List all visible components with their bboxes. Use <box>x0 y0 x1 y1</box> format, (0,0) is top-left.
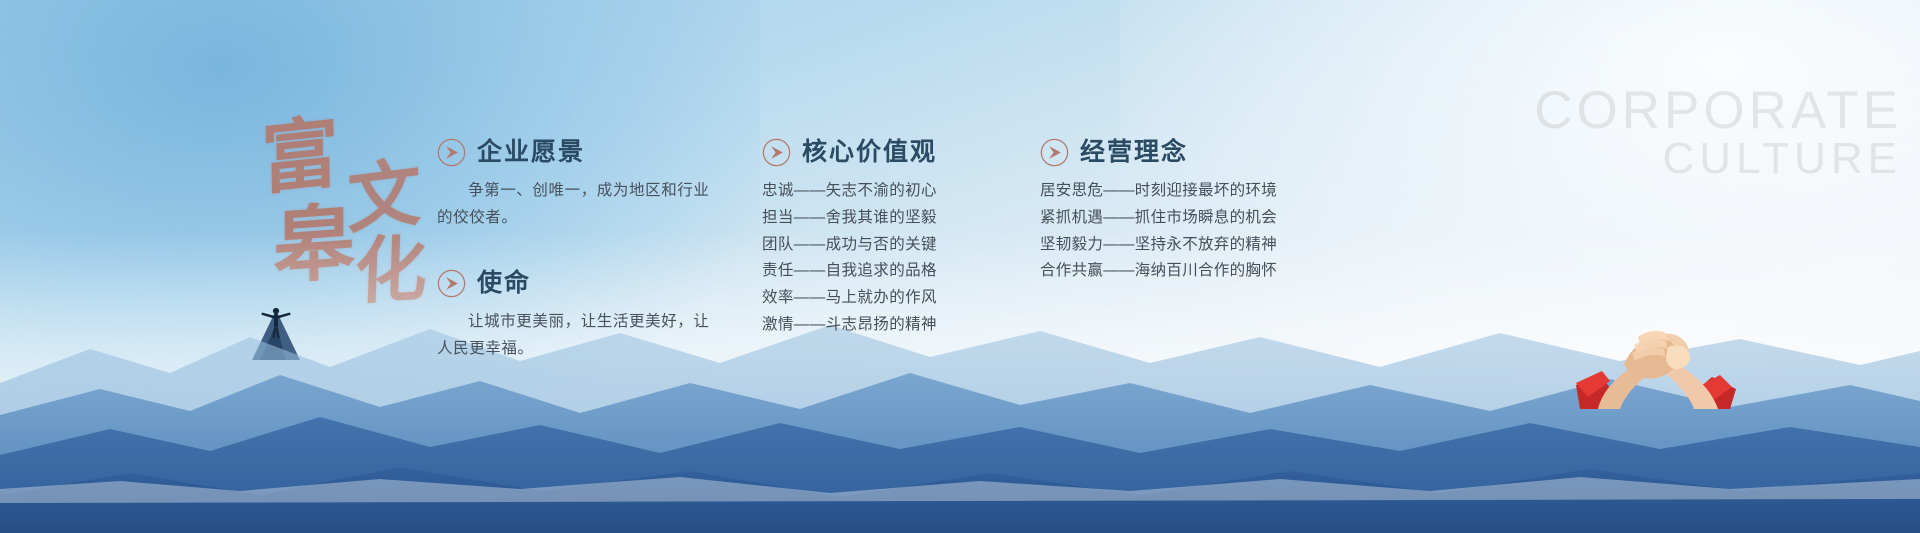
core-values-list: 忠诚——矢志不渝的初心 担当——舍我其谁的坚毅 团队——成功与否的关键 责任——… <box>762 178 1012 339</box>
heading-text: 企业愿景 <box>477 140 585 165</box>
list-item: 担当——舍我其谁的坚毅 <box>762 205 1012 232</box>
list-item: 忠诚——矢志不渝的初心 <box>762 178 1012 205</box>
heading-enterprise-vision: 企业愿景 <box>437 138 732 167</box>
watermark-line-1: CORPORATE <box>1534 86 1902 136</box>
heading-text: 经营理念 <box>1080 140 1188 165</box>
list-item: 坚韧毅力——坚持永不放弃的精神 <box>1040 232 1340 259</box>
list-item: 效率——马上就办的作风 <box>762 285 1012 312</box>
watermark-corporate-culture: CORPORATE CULTURE <box>1534 86 1902 179</box>
vision-paragraph: 争第一、创唯一，成为地区和行业的佼佼者。 <box>437 178 717 231</box>
column-vision: 企业愿景 争第一、创唯一，成为地区和行业的佼佼者。 使命 让城市更美丽，让生活更… <box>437 138 732 363</box>
handshake-clasped-hands-image <box>1540 305 1770 415</box>
heading-text: 核心价值观 <box>802 140 937 165</box>
calligraphy-char-1: 富 <box>261 114 340 200</box>
philosophy-list: 居安思危——时刻迎接最坏的环境 紧抓机遇——抓住市场瞬息的机会 坚韧毅力——坚持… <box>1040 178 1340 285</box>
chevron-circle-icon <box>1040 138 1069 167</box>
column-management-philosophy: 经营理念 居安思危——时刻迎接最坏的环境 紧抓机遇——抓住市场瞬息的机会 坚韧毅… <box>1040 138 1340 285</box>
chevron-circle-icon <box>437 138 466 167</box>
block-enterprise-vision: 企业愿景 争第一、创唯一，成为地区和行业的佼佼者。 <box>437 138 732 231</box>
list-item: 合作共赢——海纳百川合作的胸怀 <box>1040 258 1340 285</box>
chevron-circle-icon <box>437 269 466 298</box>
watermark-line-2: CULTURE <box>1534 138 1902 179</box>
list-item: 责任——自我追求的品格 <box>762 258 1012 285</box>
block-core-values: 核心价值观 忠诚——矢志不渝的初心 担当——舍我其谁的坚毅 团队——成功与否的关… <box>762 138 1012 339</box>
heading-management-philosophy: 经营理念 <box>1040 138 1340 167</box>
list-item: 居安思危——时刻迎接最坏的环境 <box>1040 178 1340 205</box>
calligraphy-char-3: 文 <box>347 155 422 238</box>
chevron-circle-icon <box>762 138 791 167</box>
block-management-philosophy: 经营理念 居安思危——时刻迎接最坏的环境 紧抓机遇——抓住市场瞬息的机会 坚韧毅… <box>1040 138 1340 285</box>
list-item: 团队——成功与否的关键 <box>762 232 1012 259</box>
column-core-values: 核心价值观 忠诚——矢志不渝的初心 担当——舍我其谁的坚毅 团队——成功与否的关… <box>762 138 1012 339</box>
list-item: 激情——斗志昂扬的精神 <box>762 312 1012 339</box>
heading-text: 使命 <box>477 271 531 296</box>
heading-core-values: 核心价值观 <box>762 138 1012 167</box>
heading-mission: 使命 <box>437 269 732 298</box>
block-mission: 使命 让城市更美丽，让生活更美好，让人民更幸福。 <box>437 269 732 362</box>
list-item: 紧抓机遇——抓住市场瞬息的机会 <box>1040 205 1340 232</box>
mission-paragraph: 让城市更美丽，让生活更美好，让人民更幸福。 <box>437 309 717 362</box>
corporate-culture-banner: CORPORATE CULTURE 富 皋 文 化 <box>0 0 1920 533</box>
